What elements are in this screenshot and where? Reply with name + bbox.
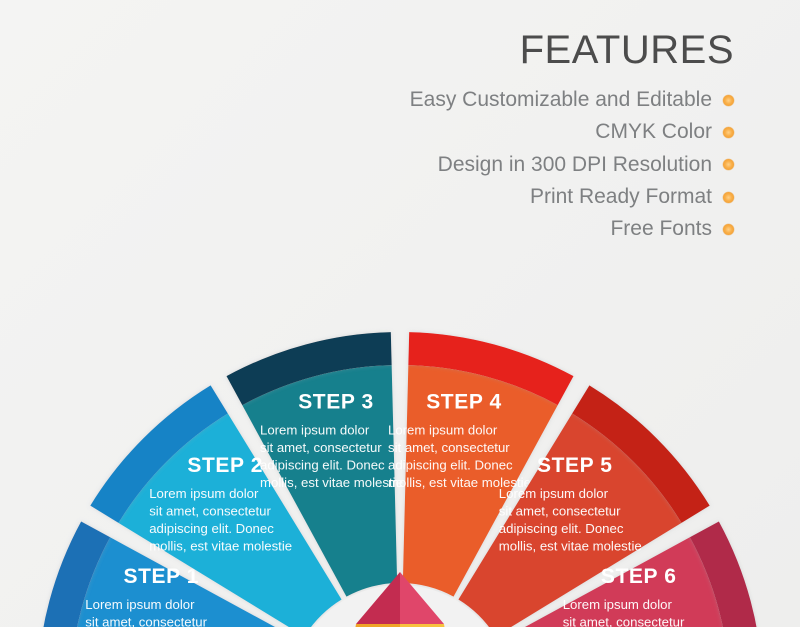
segment-label: STEP 3	[298, 390, 374, 413]
segment-label: STEP 6	[601, 565, 677, 588]
segment-label: STEP 1	[124, 565, 200, 588]
segment-label: STEP 4	[426, 390, 502, 413]
infographic-canvas: FEATURES Easy Customizable and Editable …	[0, 0, 800, 627]
segment-label: STEP 2	[187, 454, 263, 477]
step-wheel-diagram: STEP 1Lorem ipsum dolorsit amet, consect…	[0, 0, 800, 627]
segment-label: STEP 5	[537, 454, 613, 477]
